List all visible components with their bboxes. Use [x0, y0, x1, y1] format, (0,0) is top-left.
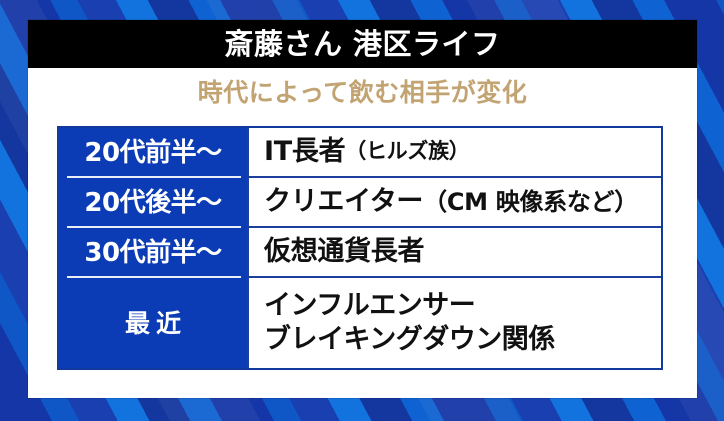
table-row-value-2: クリエイター（CM 映像系など）: [249, 178, 661, 228]
table-row-value-4-line-2: ブレイキングダウン関係: [264, 325, 555, 355]
table-row-value-2-note: （CM 映像系など）: [423, 189, 638, 216]
table-row-period-2: 20代後半〜: [59, 178, 247, 228]
table-row-value-1: IT長者（ヒルズ族）: [249, 128, 661, 178]
table-period-column: 20代前半〜 20代後半〜 30代前半〜 最近: [59, 128, 247, 368]
table-row-value-3: 仮想通貨長者: [249, 228, 661, 278]
subtitle: 時代によって飲む相手が変化: [198, 80, 528, 105]
table-row-period-1: 20代前半〜: [59, 128, 247, 178]
screenshot-root: 斎藤さん 港区ライフ 時代によって飲む相手が変化 20代前半〜 20代後半〜 3…: [0, 0, 724, 421]
table-row-value-4: インフルエンサー ブレイキングダウン関係: [249, 278, 661, 368]
subtitle-row: 時代によって飲む相手が変化: [28, 68, 697, 116]
table-row-value-3-main: 仮想通貨長者: [264, 237, 424, 267]
table-row-value-4-lines: インフルエンサー ブレイキングダウン関係: [264, 291, 555, 354]
table-row-value-2-main: クリエイター: [264, 187, 423, 217]
table-row-period-4: 最近: [59, 278, 247, 368]
table-row-value-1-note: （ヒルズ族）: [345, 140, 469, 164]
info-card: 斎藤さん 港区ライフ 時代によって飲む相手が変化 20代前半〜 20代後半〜 3…: [28, 20, 697, 398]
page-title: 斎藤さん 港区ライフ: [224, 30, 500, 59]
table-value-column: IT長者（ヒルズ族） クリエイター（CM 映像系など） 仮想通貨長者 インフルエ…: [247, 128, 661, 368]
table-row-period-3: 30代前半〜: [59, 228, 247, 278]
timeline-table: 20代前半〜 20代後半〜 30代前半〜 最近 IT長者（ヒルズ族） クリエイタ…: [57, 126, 663, 370]
title-bar: 斎藤さん 港区ライフ: [28, 20, 697, 68]
table-row-value-1-main: IT長者: [264, 137, 345, 167]
table-row-value-4-line-1: インフルエンサー: [264, 291, 555, 321]
